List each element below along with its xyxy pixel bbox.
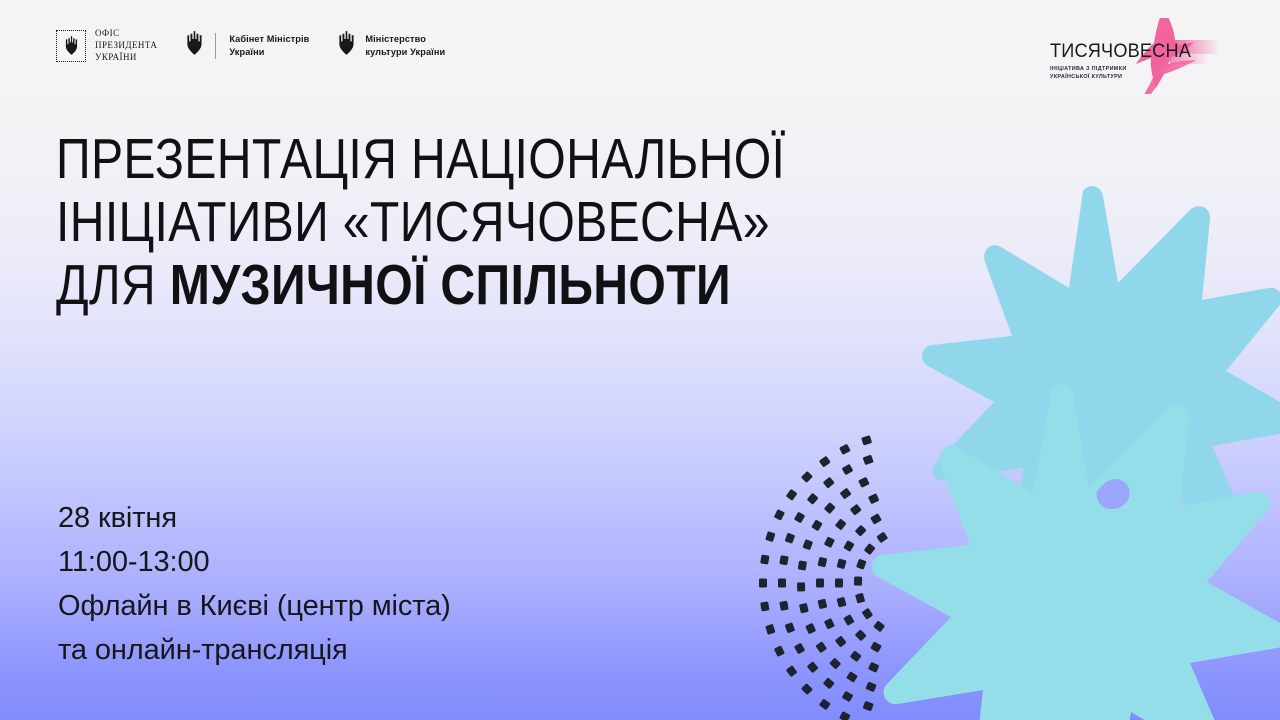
gov-logo-ministry-of-culture: Міністерство культури України [337,31,445,60]
event-time: 11:00-13:00 [58,540,451,584]
star-lower-right-shape [872,384,1280,720]
event-date: 28 квітня [58,496,451,540]
headline-line-2: ІНІЦІАТИВИ «ТИСЯЧОВЕСНА» [56,191,800,254]
government-logo-row: Офіс Президента України Кабінет Міністрі… [56,28,445,64]
amphitheatre-arc-shape [759,435,888,720]
trident-emblem-icon [337,31,356,60]
gov-logo-label: Офіс Президента України [95,28,157,64]
brand-logo: ТИСЯЧОВЕСНА ІНІЦІАТИВА З ПІДТРИМКИ УКРАЇ… [1044,18,1254,94]
star-upper-right-shape [922,186,1280,582]
event-place: Офлайн в Києві (центр міста) [58,584,451,628]
brand-text-block: ТИСЯЧОВЕСНА ІНІЦІАТИВА З ПІДТРИМКИ УКРАЇ… [1050,42,1226,81]
headline-line-3-prefix: ДЛЯ [56,253,170,317]
page-title: ПРЕЗЕНТАЦІЯ НАЦІОНАЛЬНОЇ ІНІЦІАТИВИ «ТИС… [56,128,936,317]
brand-name: ТИСЯЧОВЕСНА [1050,42,1214,62]
trident-emblem-boxed-icon [56,30,86,62]
brand-subtitle: ІНІЦІАТИВА З ПІДТРИМКИ УКРАЇНСЬКОЇ КУЛЬТ… [1050,65,1221,81]
star-lower-accent-blob-2 [1054,547,1099,589]
logo-divider [215,33,216,59]
gov-logo-label: Міністерство культури України [365,33,445,58]
event-format: та онлайн-трансляція [58,628,451,672]
poster-canvas: Офіс Президента України Кабінет Міністрі… [0,0,1280,720]
star-upper-accent-blob [1020,392,1054,423]
gov-logo-label: Кабінет Міністрів України [229,33,309,58]
gov-logo-office-of-president: Офіс Президента України [56,28,157,64]
headline-line-3: ДЛЯ МУЗИЧНОЇ СПІЛЬНОТИ [56,254,800,317]
star-lower-accent-blob-1 [1097,479,1130,509]
headline-line-1: ПРЕЗЕНТАЦІЯ НАЦІОНАЛЬНОЇ [56,128,800,191]
event-details: 28 квітня 11:00-13:00 Офлайн в Києві (це… [58,496,451,672]
headline-line-3-emphasis: МУЗИЧНОЇ СПІЛЬНОТИ [170,253,731,317]
gov-logo-cabinet-of-ministers: Кабінет Міністрів України [185,31,309,60]
trident-emblem-icon [185,31,204,60]
